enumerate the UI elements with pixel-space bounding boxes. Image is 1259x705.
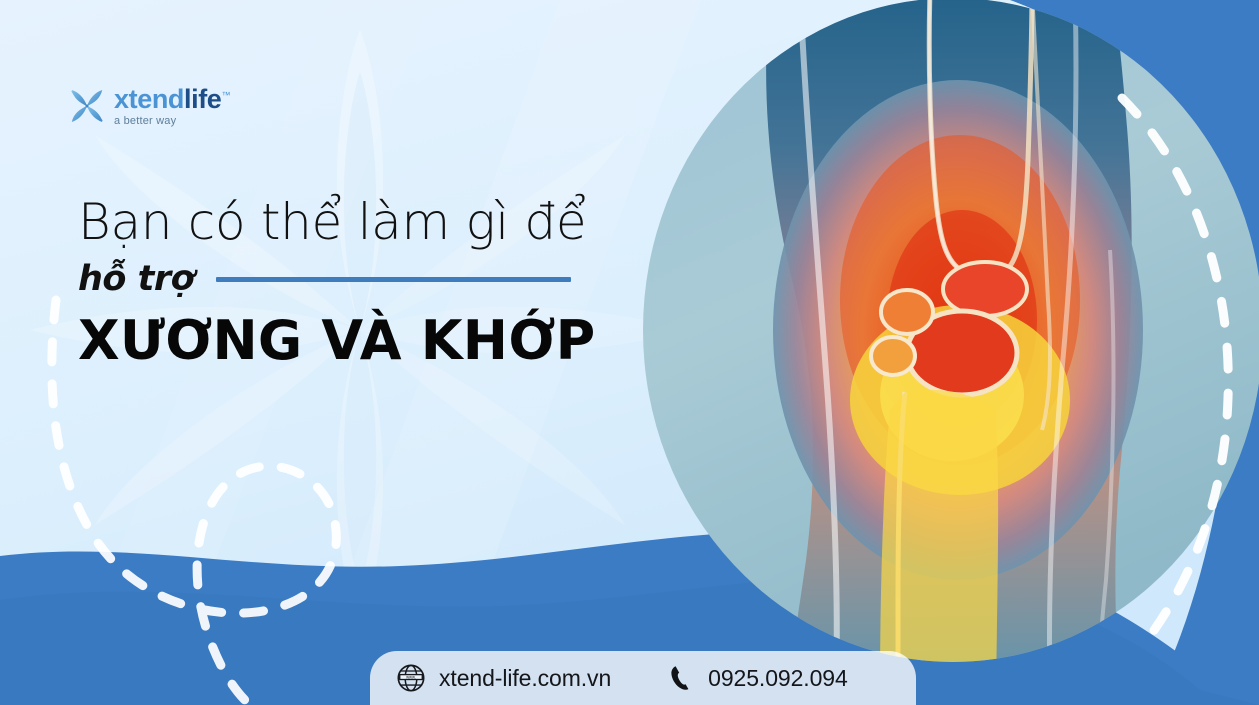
headline-line-1: Bạn có thể làm gì để (78, 196, 678, 249)
headline-divider (216, 277, 571, 282)
headline-block: Bạn có thể làm gì để hỗ trợ XƯƠNG VÀ KHỚ… (78, 196, 678, 370)
contact-phone[interactable]: 0925.092.094 (669, 664, 848, 692)
logo-wordmark-block: xtendlife™ a better way (114, 86, 230, 127)
trademark-symbol: ™ (221, 90, 230, 100)
svg-text:www.: www. (406, 675, 416, 680)
logo-wordmark: xtendlife™ (114, 86, 230, 113)
website-text: xtend-life.com.vn (439, 665, 611, 692)
contact-website[interactable]: www. xtend-life.com.vn (396, 663, 611, 693)
headline-line-3: XƯƠNG VÀ KHỚP (78, 313, 678, 370)
logo-tagline: a better way (114, 116, 230, 127)
headline-subrow: hỗ trợ (78, 257, 678, 301)
contact-bar: www. xtend-life.com.vn 0925.092.094 (370, 651, 916, 705)
globe-icon: www. (396, 663, 426, 693)
xtendlife-flower-icon (68, 87, 106, 125)
dashed-arc-right (1122, 98, 1228, 636)
logo-word-life: life (184, 84, 221, 114)
headline-line-2: hỗ trợ (78, 259, 194, 299)
poster-canvas: xtendlife™ a better way Bạn có thể làm g… (0, 0, 1259, 705)
phone-text: 0925.092.094 (708, 665, 848, 692)
brand-logo[interactable]: xtendlife™ a better way (68, 80, 258, 132)
phone-icon (669, 664, 695, 692)
logo-word-xtend: xtend (114, 84, 184, 114)
